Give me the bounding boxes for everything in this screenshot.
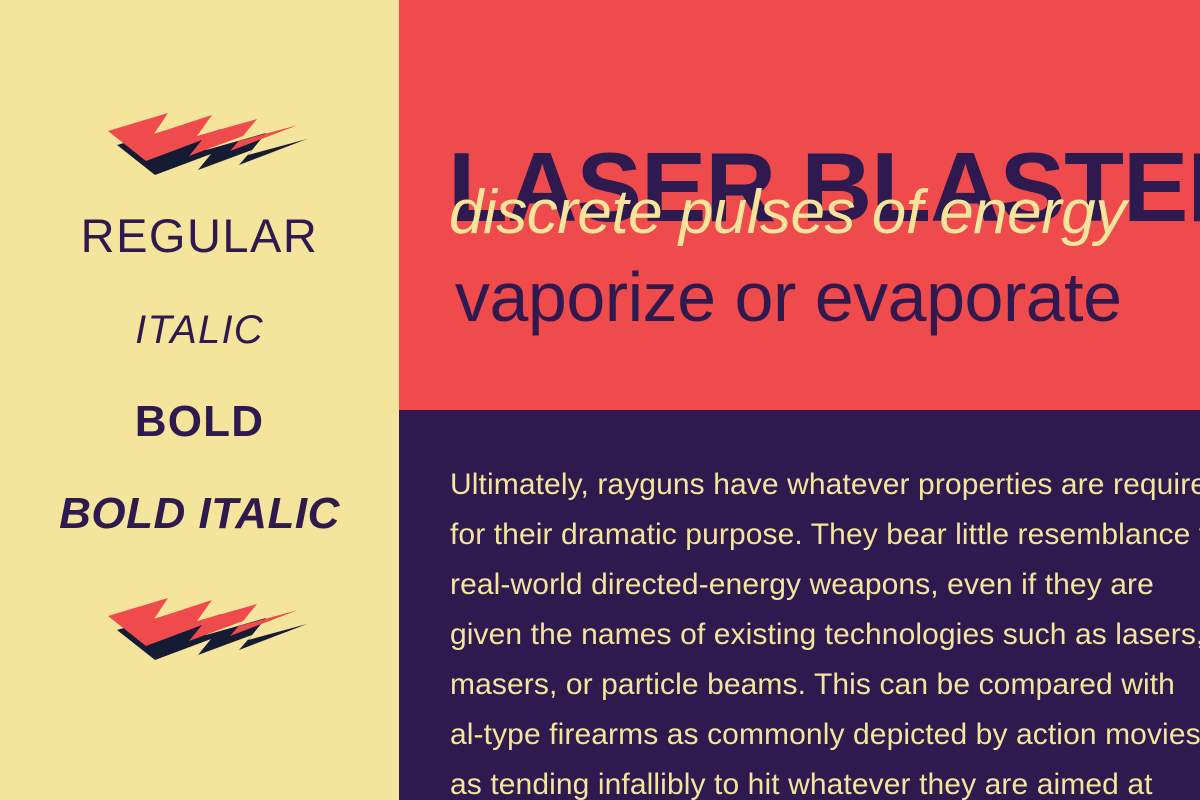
body-line: al-type firearms as commonly depicted by… [450, 710, 1200, 760]
weight-sample-bold: BOLD [0, 400, 399, 444]
font-weights-panel: REGULAR ITALIC BOLD BOLD ITALIC [0, 0, 399, 800]
lightning-bolt-icon [97, 588, 309, 662]
body-copy-panel: Ultimately, rayguns have whatever proper… [399, 410, 1200, 800]
lightning-bolt-icon [97, 103, 309, 177]
body-line: as tending infallibly to hit whatever th… [450, 760, 1200, 800]
weight-sample-bold-italic: BOLD ITALIC [0, 492, 399, 536]
hero-subtitle: discrete pulses of energy [449, 182, 1126, 244]
weight-sample-regular: REGULAR [0, 212, 399, 259]
weight-sample-italic: ITALIC [0, 310, 399, 350]
body-line: given the names of existing technologies… [450, 610, 1200, 660]
body-line: for their dramatic purpose. They bear li… [450, 510, 1200, 560]
body-line: Ultimately, rayguns have whatever proper… [450, 460, 1200, 510]
body-line: real-world directed-energy weapons, even… [450, 560, 1200, 610]
type-specimen-page: REGULAR ITALIC BOLD BOLD ITALIC LASER BL… [0, 0, 1200, 800]
hero-tagline: vaporize or evaporate [455, 262, 1122, 332]
hero-panel: LASER BLASTER discrete pulses of energy … [399, 0, 1200, 410]
body-copy-block: Ultimately, rayguns have whatever proper… [450, 460, 1200, 800]
body-line: masers, or particle beams. This can be c… [450, 660, 1200, 710]
